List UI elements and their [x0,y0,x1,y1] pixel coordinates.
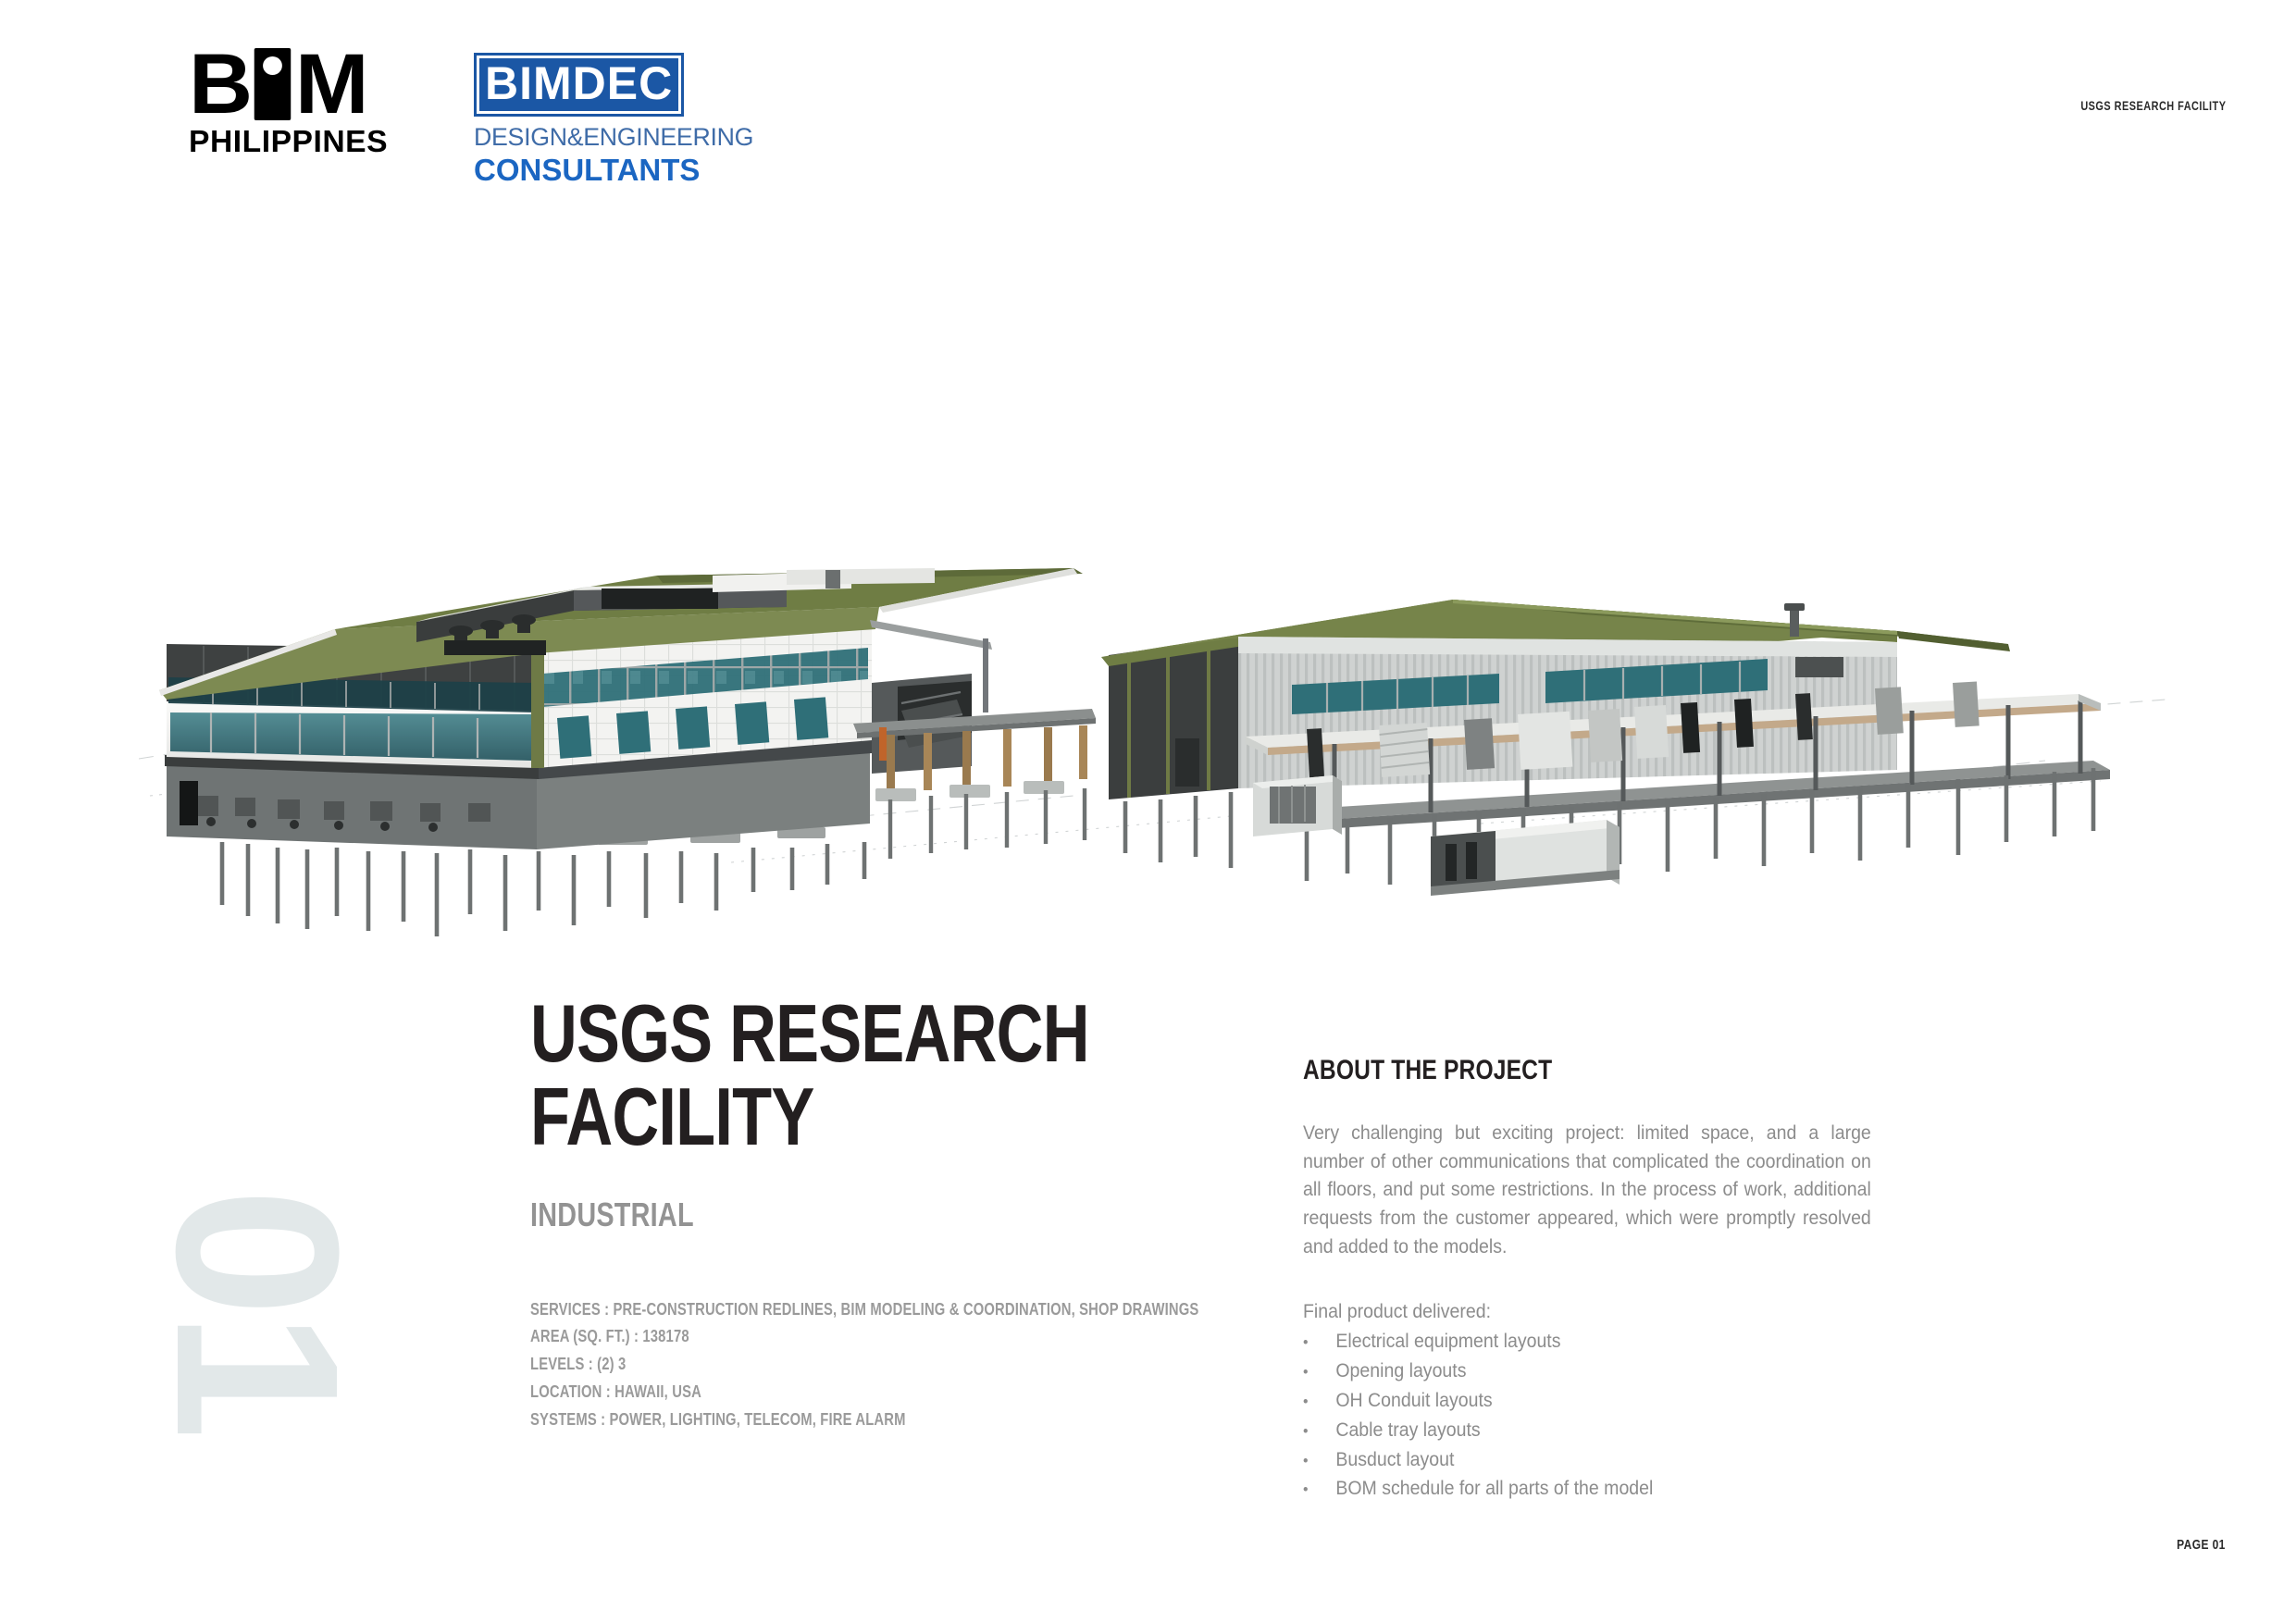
bim-philippines-subtitle: PHILIPPINES [189,124,425,159]
bim-letter-m: M [295,48,367,121]
bim-wordmark: B M [189,48,429,121]
deliverables-list: • Electrical equipment layouts • Opening… [1303,1327,1914,1504]
list-item-label: Opening layouts [1335,1357,1466,1386]
bim-letter-i-dot-icon [254,48,292,120]
bim-letter-b: B [189,48,251,121]
bimdec-wordmark: BIMDEC [485,60,673,106]
watermark-digits: 01 [142,1188,373,1434]
project-type-label: INDUSTRIAL [530,1196,1034,1234]
spec-area: AREA (SQ. FT.) : 138178 [530,1322,1034,1350]
spec-levels: LEVELS : (2) 3 [530,1350,1034,1378]
project-specs-list: SERVICES : PRE-CONSTRUCTION REDLINES, BI… [530,1295,1160,1434]
bullet-icon: • [1303,1390,1335,1414]
spec-systems: SYSTEMS : POWER, LIGHTING, TELECOM, FIRE… [530,1406,1034,1433]
list-item: • Opening layouts [1303,1357,1871,1386]
bullet-icon: • [1303,1419,1335,1443]
page-number-footer: PAGE 01 [2177,1537,2226,1553]
list-item: • Cable tray layouts [1303,1416,1871,1445]
bullet-icon: • [1303,1449,1335,1473]
list-item: • BOM schedule for all parts of the mode… [1303,1474,1871,1504]
list-item-label: OH Conduit layouts [1335,1386,1492,1416]
connector-walkway [853,674,1096,859]
spec-services: SERVICES : PRE-CONSTRUCTION REDLINES, BI… [530,1295,1034,1323]
project-title-block: USGS RESEARCH FACILITY INDUSTRIAL SERVIC… [530,992,1160,1433]
right-building [1101,600,2110,896]
list-item-label: BOM schedule for all parts of the model [1335,1474,1653,1504]
page-title-line-1: USGS RESEARCH [530,992,1034,1075]
about-the-project-section: ABOUT THE PROJECT Very challenging but e… [1303,1055,1914,1504]
bullet-icon: • [1303,1360,1335,1384]
bimdec-box: BIMDEC [474,53,684,117]
building-3d-render [139,518,2175,944]
page-number-watermark: 01 [109,1158,405,1464]
bimdec-tagline-design: DESIGN&ENGINEERING [474,123,721,152]
running-header-title: USGS RESEARCH FACILITY [2080,98,2226,113]
deliverables-lead: Final product delivered: [1303,1298,1871,1327]
bim-philippines-logo: B M PHILIPPINES [189,48,420,159]
list-item-label: Busduct layout [1335,1445,1454,1475]
list-item: • Busduct layout [1303,1445,1871,1475]
about-paragraph: Very challenging but exciting project: l… [1303,1120,1871,1261]
list-item: • OH Conduit layouts [1303,1386,1871,1416]
bimdec-tagline-consultants: CONSULTANTS [474,153,724,188]
bullet-icon: • [1303,1331,1335,1355]
about-heading: ABOUT THE PROJECT [1303,1055,1804,1086]
page-title-line-2: FACILITY [530,1075,1034,1158]
bullet-icon: • [1303,1478,1335,1502]
list-item-label: Electrical equipment layouts [1335,1327,1560,1357]
project-sheet-page: B M PHILIPPINES BIMDEC DESIGN&ENGINEERIN… [0,0,2296,1623]
list-item-label: Cable tray layouts [1335,1416,1480,1445]
bimdec-logo: BIMDEC DESIGN&ENGINEERING CONSULTANTS [474,53,724,188]
spec-location: LOCATION : HAWAII, USA [530,1378,1034,1406]
list-item: • Electrical equipment layouts [1303,1327,1871,1357]
